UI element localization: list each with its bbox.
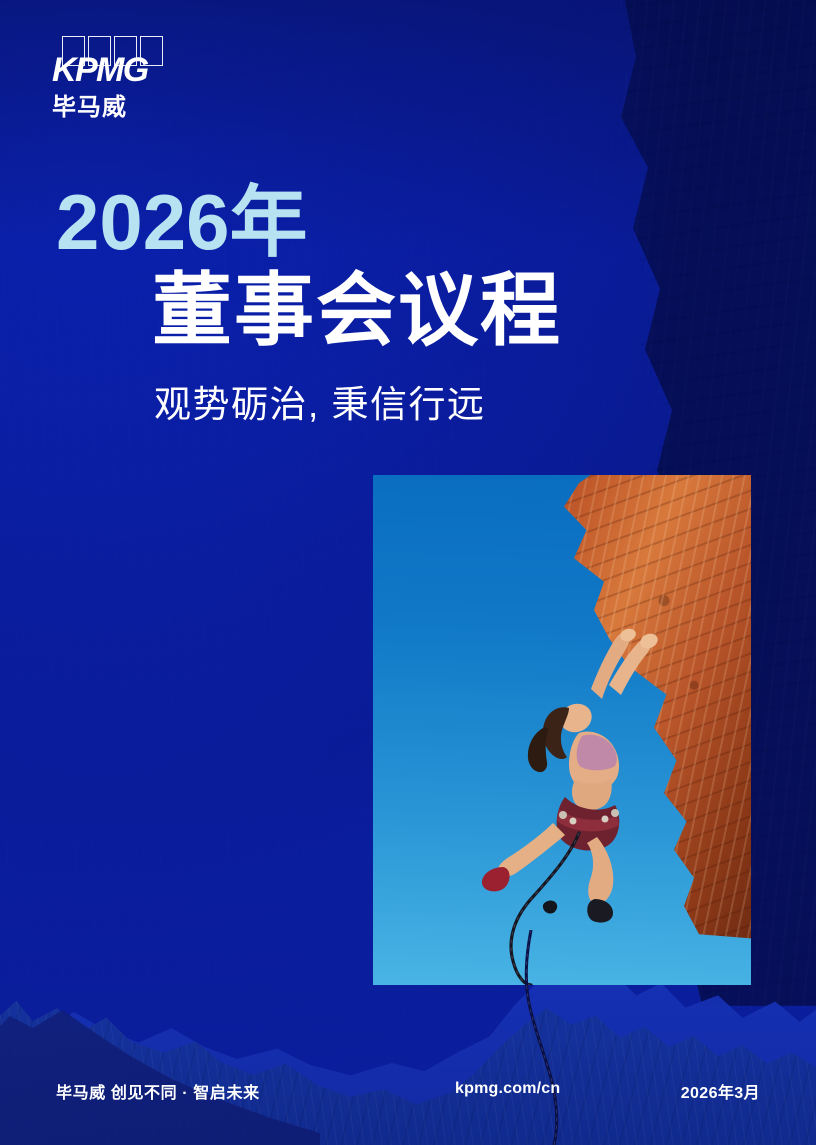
- kpmg-logo: KPMG 毕马威: [52, 36, 232, 120]
- cover-footer: 毕马威 创见不同 · 智启未来 kpmg.com/cn 2026年3月: [0, 1079, 816, 1105]
- cover-title-year: 2026年: [56, 183, 308, 261]
- footer-date: 2026年3月: [681, 1079, 760, 1103]
- climber-figure-icon: [373, 475, 751, 985]
- kpmg-chinese-name: 毕马威: [52, 96, 232, 120]
- footer-website[interactable]: kpmg.com/cn: [455, 1080, 560, 1098]
- kpmg-wordmark: KPMG: [52, 53, 148, 87]
- cover-title-main: 董事会议程: [152, 268, 562, 354]
- cover-subtitle: 观势砺治, 秉信行远: [154, 384, 486, 427]
- footer-tagline: 毕马威 创见不同 · 智启未来: [56, 1079, 260, 1103]
- hero-photo-climber: [373, 475, 751, 985]
- kpmg-logo-mark: KPMG: [52, 36, 170, 88]
- report-cover-page: KPMG 毕马威 2026年 董事会议程 观势砺治, 秉信行远: [0, 0, 816, 1145]
